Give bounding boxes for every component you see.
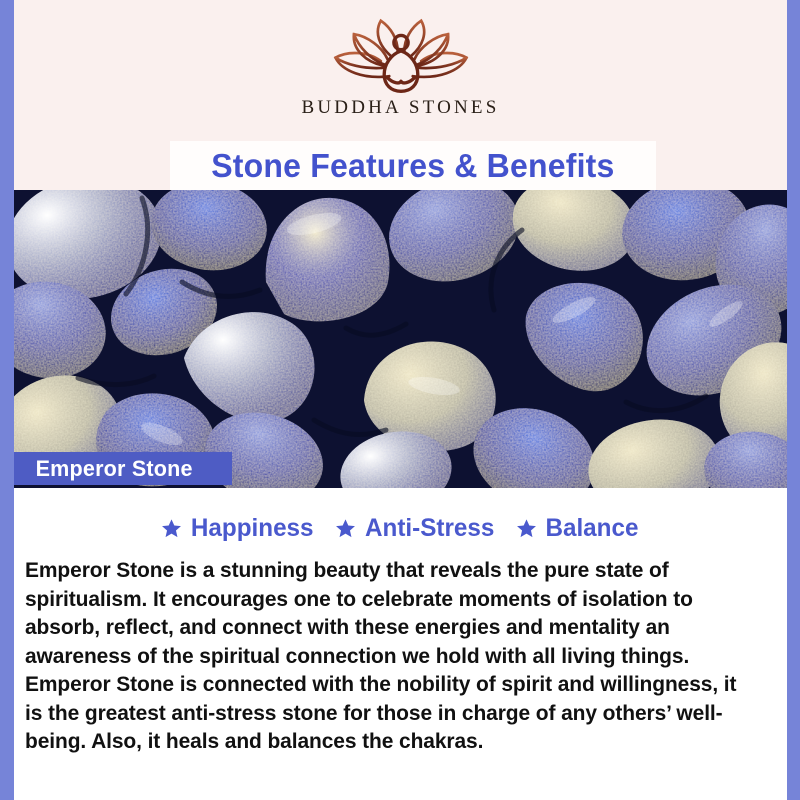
star-icon	[335, 518, 356, 539]
poster-canvas: BUDDHA STONES Stone Features & Benefits	[0, 0, 800, 800]
frame-accent-left	[0, 0, 14, 800]
frame-accent-right	[787, 0, 800, 800]
page-title: Stone Features & Benefits	[211, 147, 614, 185]
poster-inner: BUDDHA STONES Stone Features & Benefits	[14, 0, 787, 800]
brand-header: BUDDHA STONES	[14, 0, 787, 142]
benefit-label: Happiness	[191, 514, 314, 543]
benefit-label: Anti-Stress	[365, 514, 494, 543]
brand-name: BUDDHA STONES	[301, 97, 499, 119]
benefit-item-anti-stress: Anti-Stress	[335, 514, 496, 543]
description-text: Emperor Stone is a stunning beauty that …	[14, 543, 787, 756]
lotus-meditating-figure-icon	[317, 14, 485, 96]
stone-name-tag: Emperor Stone	[14, 452, 232, 485]
benefits-row: Happiness Anti-Stress	[14, 488, 787, 543]
description-panel: Happiness Anti-Stress	[14, 488, 787, 800]
description-paragraph: Emperor Stone is connected with the nobi…	[25, 670, 748, 756]
benefit-item-happiness: Happiness	[161, 514, 315, 543]
benefit-item-balance: Balance	[516, 514, 640, 543]
hero-stone-photo	[14, 190, 787, 488]
page-title-band: Stone Features & Benefits	[170, 141, 656, 190]
stone-name-label: Emperor Stone	[36, 456, 193, 482]
benefit-label: Balance	[546, 514, 639, 543]
star-icon	[161, 518, 182, 539]
star-icon	[516, 518, 537, 539]
description-paragraph: Emperor Stone is a stunning beauty that …	[25, 556, 748, 670]
